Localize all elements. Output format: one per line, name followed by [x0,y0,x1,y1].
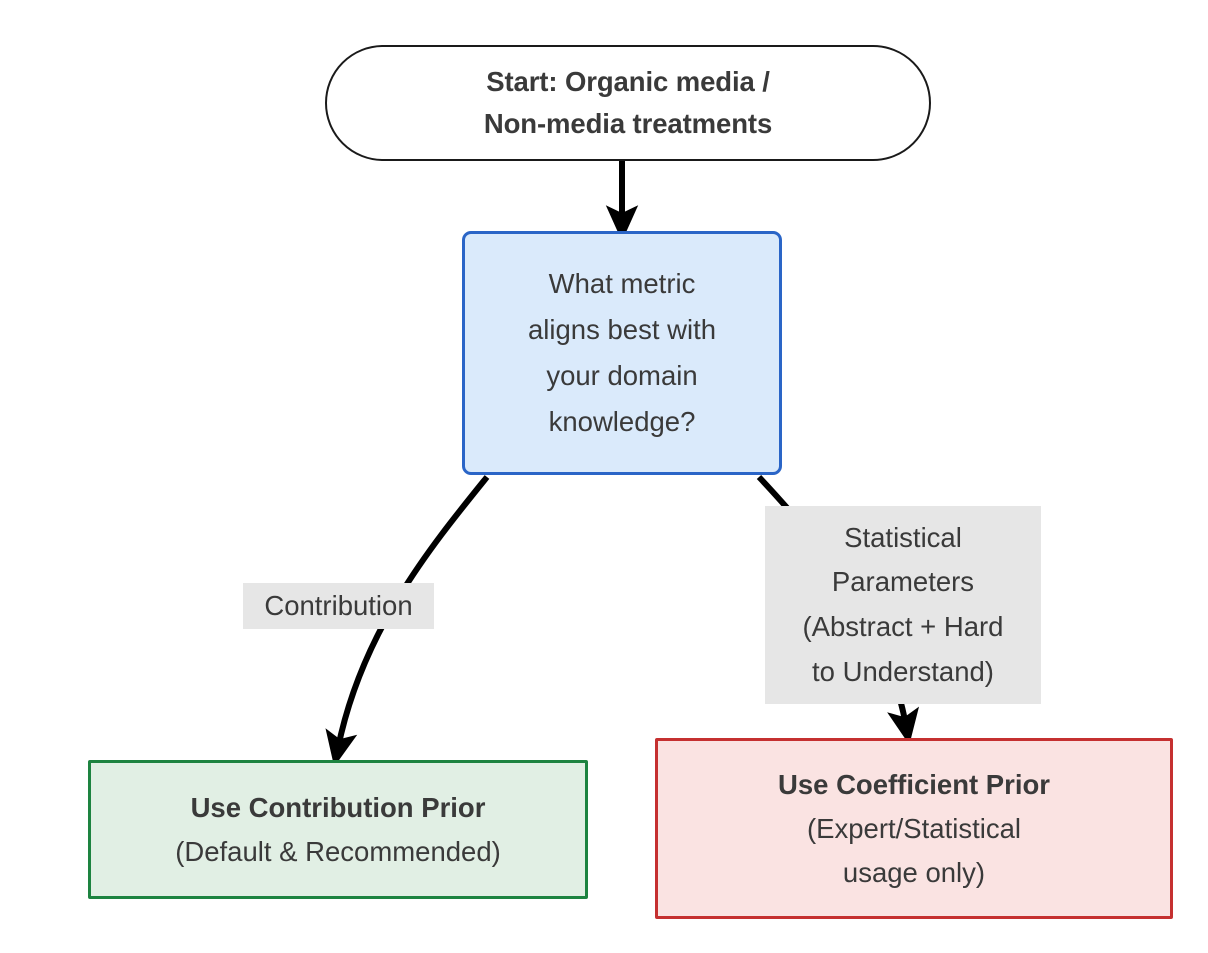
node-decision-line-3: your domain [465,353,779,399]
edge-label-contribution: Contribution [243,583,434,629]
edge-label-statistical-line-4: to Understand) [765,650,1041,695]
node-contribution-prior-subtitle: (Default & Recommended) [91,830,585,874]
flowchart-canvas: Start: Organic media / Non-media treatme… [0,0,1208,953]
node-coefficient-prior-subtitle-1: (Expert/Statistical [658,807,1170,851]
node-contribution-prior-title: Use Contribution Prior [91,786,585,830]
node-start-line-2: Non-media treatments [327,103,929,145]
node-start-terminator[interactable]: Start: Organic media / Non-media treatme… [325,45,931,161]
node-start-line-1: Start: Organic media / [327,61,929,103]
node-use-contribution-prior[interactable]: Use Contribution Prior (Default & Recomm… [88,760,588,899]
node-decision-line-4: knowledge? [465,399,779,445]
node-decision-line-2: aligns best with [465,307,779,353]
node-use-coefficient-prior[interactable]: Use Coefficient Prior (Expert/Statistica… [655,738,1173,919]
edge-label-statistical-line-3: (Abstract + Hard [765,605,1041,650]
node-decision-line-1: What metric [465,261,779,307]
node-coefficient-prior-subtitle-2: usage only) [658,851,1170,895]
edge-label-statistical-parameters: Statistical Parameters (Abstract + Hard … [765,506,1041,704]
edge-label-contribution-line-1: Contribution [243,584,434,629]
edge-label-statistical-line-2: Parameters [765,560,1041,605]
node-coefficient-prior-title: Use Coefficient Prior [658,763,1170,807]
edge-label-statistical-line-1: Statistical [765,516,1041,561]
node-decision-metric-alignment[interactable]: What metric aligns best with your domain… [462,231,782,475]
